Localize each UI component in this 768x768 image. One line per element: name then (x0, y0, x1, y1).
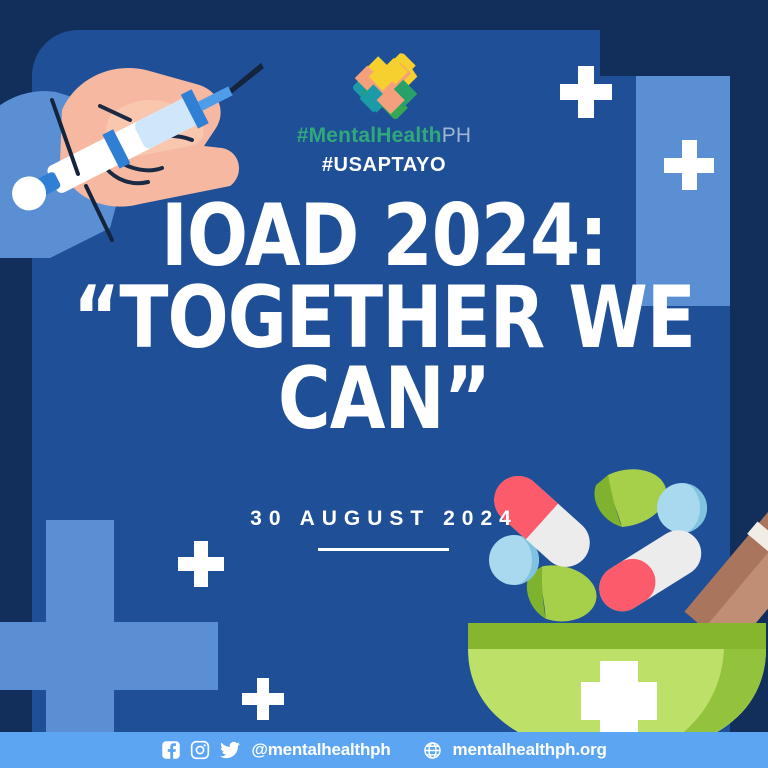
website-url[interactable]: mentalhealthph.org (453, 740, 607, 760)
brand-wordmark: #MentalHealthPH (0, 124, 768, 148)
social-handle[interactable]: @mentalhealthph (251, 740, 390, 760)
title-line-1: IOAD 2024: (27, 196, 741, 278)
mentalhealthph-logo-icon (346, 50, 426, 122)
poster-title: IOAD 2024: “TOGETHER WE CAN” (27, 196, 741, 441)
white-cross-icon (242, 678, 284, 720)
accent-cross-bottom-left-horizontal (0, 622, 218, 690)
navy-top-right-block (600, 0, 768, 76)
title-line-2: “TOGETHER WE (27, 278, 741, 360)
title-line-3: CAN” (27, 359, 741, 441)
brand-wordmark-primary: #MentalHealth (297, 124, 442, 147)
poster-canvas: #MentalHealthPH #USAPTAYO IOAD 2024: “TO… (0, 0, 768, 768)
facebook-icon[interactable] (161, 740, 181, 760)
brand-wordmark-suffix: PH (442, 124, 472, 147)
footer-bar: @mentalhealthph mentalhealthph.org (0, 732, 768, 768)
mortar-pestle-pills-illustration (466, 455, 768, 745)
campaign-hashtag: #USAPTAYO (0, 154, 768, 177)
twitter-icon[interactable] (219, 740, 241, 760)
white-cross-icon (560, 66, 612, 118)
mortar-bowl (468, 623, 766, 745)
instagram-icon[interactable] (190, 740, 210, 760)
globe-icon (423, 741, 442, 760)
date-underline-rule (318, 548, 449, 551)
white-cross-icon (178, 541, 224, 587)
event-date: 30 AUGUST 2024 (0, 507, 768, 531)
